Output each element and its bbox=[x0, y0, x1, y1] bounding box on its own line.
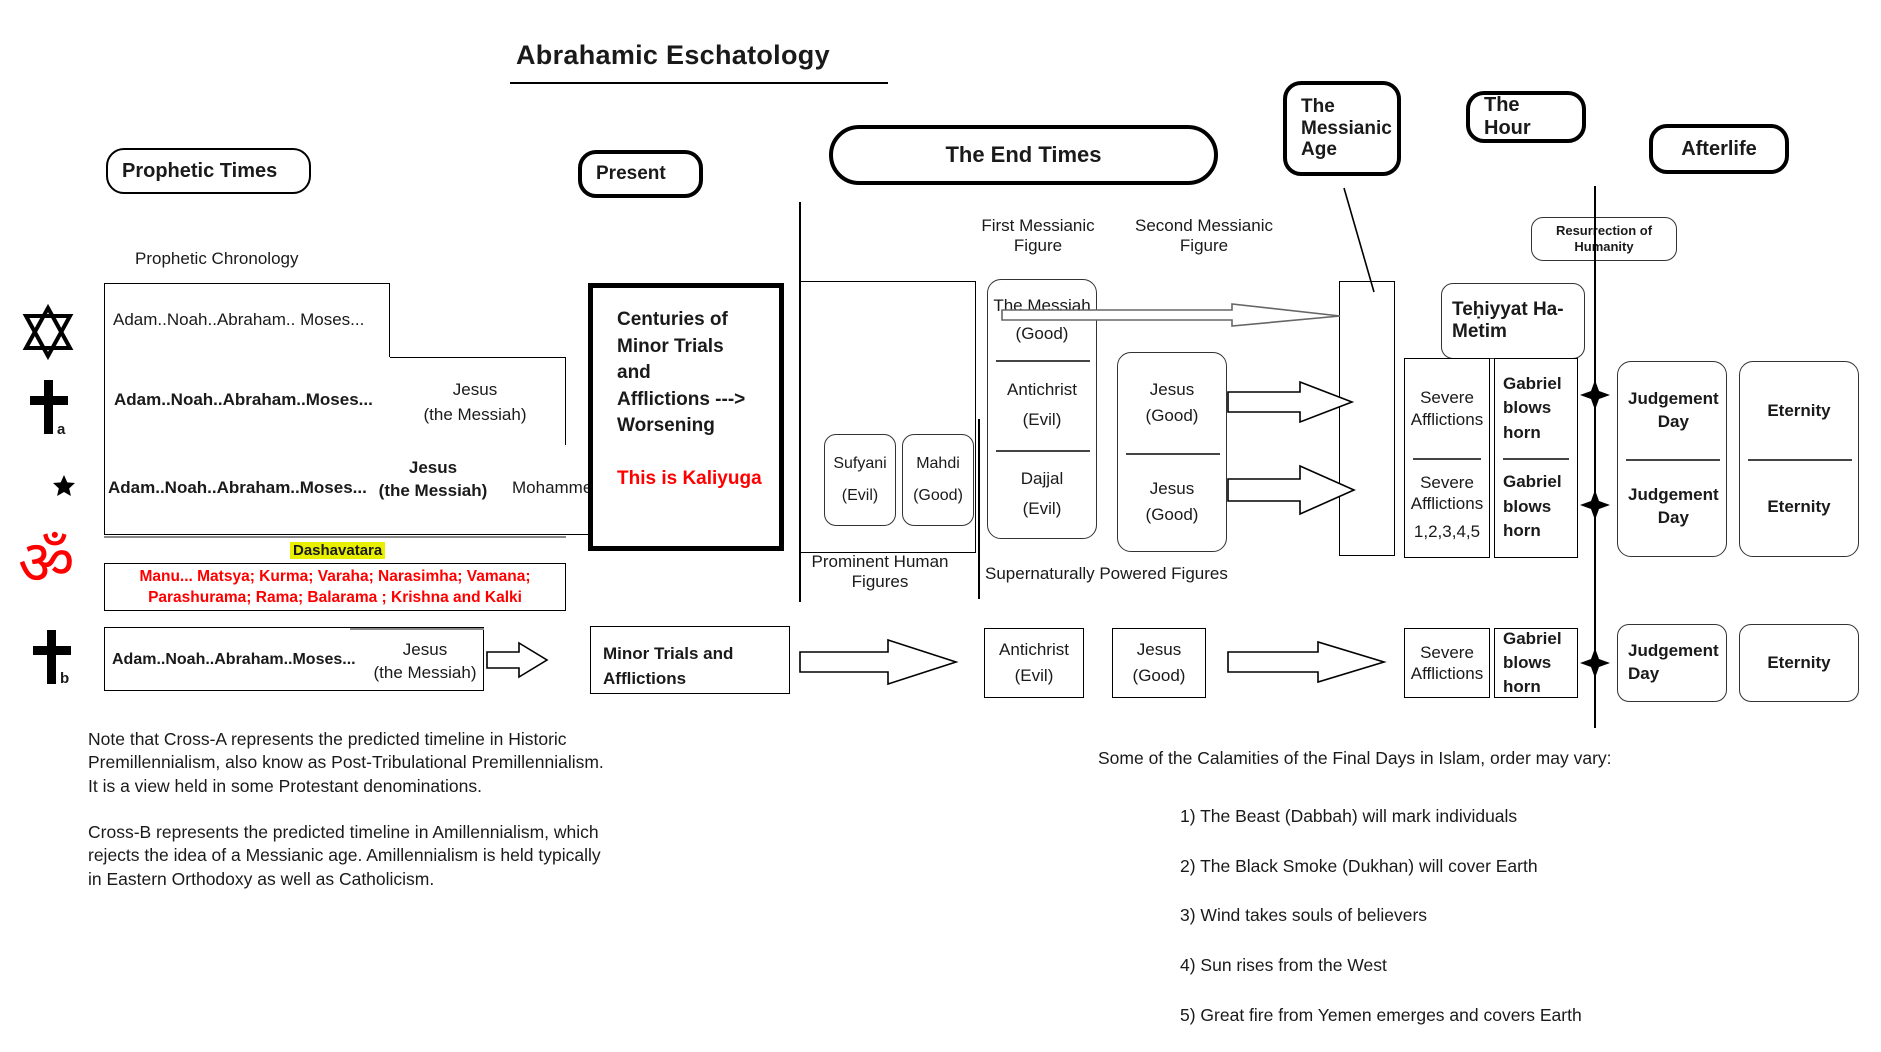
christianity-b-messiah-name: Jesus bbox=[375, 640, 475, 660]
figure-alignment: (Good) bbox=[1133, 666, 1186, 686]
affliction-label: Severe Afflictions bbox=[1409, 472, 1485, 515]
arrow-jesus1-to-messianic-age bbox=[1228, 380, 1356, 424]
affliction-note: 1,2,3,4,5 bbox=[1414, 521, 1480, 542]
tehiyyat-ha-metim-box: Teḥiyyat Ha-Metim bbox=[1441, 283, 1585, 359]
phase-present[interactable]: Present bbox=[578, 150, 703, 198]
figure-alignment: (Good) bbox=[1146, 505, 1199, 525]
christianity-a-messiah-name: Jesus bbox=[405, 380, 545, 400]
star-of-david-icon bbox=[22, 305, 74, 364]
affliction-label: Severe Afflictions bbox=[1409, 387, 1485, 430]
islam-messiah-name: Jesus bbox=[368, 458, 498, 478]
figure-name: Dajjal bbox=[1021, 469, 1064, 489]
eternity-label: Eternity bbox=[1767, 497, 1830, 517]
page-title: Abrahamic Eschatology bbox=[516, 40, 830, 71]
severe-afflictions-stack: Severe Afflictions Severe Afflictions 1,… bbox=[1404, 358, 1490, 558]
calamity-item: 1) The Beast (Dabbah) will mark individu… bbox=[1180, 804, 1582, 829]
label-supernatural-figures: Supernaturally Powered Figures bbox=[985, 564, 1228, 584]
calamity-item: 3) Wind takes souls of believers bbox=[1180, 903, 1582, 928]
messianic-age-connector bbox=[1330, 186, 1450, 316]
figure-name: Antichrist bbox=[1007, 380, 1077, 400]
eternity-stack: Eternity Eternity bbox=[1739, 361, 1859, 557]
judgement-label: Judgement Day bbox=[1628, 388, 1719, 434]
cross-b-subscript: b bbox=[60, 670, 69, 688]
cross-b-minor-trials-label: Minor Trials and Afflictions bbox=[603, 642, 783, 691]
islam-prophets: Adam..Noah..Abraham..Moses... bbox=[108, 478, 367, 498]
figure-name: Jesus bbox=[1137, 640, 1181, 660]
notes-right-items: 1) The Beast (Dabbah) will mark individu… bbox=[1180, 779, 1582, 1052]
svg-text:ॐ: ॐ bbox=[18, 526, 75, 599]
afterlife-boundary-line bbox=[1594, 186, 1596, 728]
cross-b-eternity-box: Eternity bbox=[1739, 624, 1859, 702]
calamity-item: 4) Sun rises from the West bbox=[1180, 953, 1582, 978]
judgement-label: Judgement Day bbox=[1628, 484, 1719, 530]
figure-alignment: (Good) bbox=[913, 487, 963, 505]
label-first-messianic-figure: First Messianic Figure bbox=[972, 216, 1104, 257]
christianity-b-prophets: Adam..Noah..Abraham..Moses... bbox=[112, 650, 356, 669]
label-prophetic-chronology: Prophetic Chronology bbox=[135, 249, 298, 269]
notes-right-heading: Some of the Calamities of the Final Days… bbox=[1098, 747, 1612, 770]
phase-label: Afterlife bbox=[1667, 138, 1771, 161]
phase-the-hour[interactable]: The Hour bbox=[1466, 91, 1586, 143]
christianity-a-prophets: Adam..Noah..Abraham..Moses... bbox=[114, 390, 373, 410]
islam-messiah-note: (the Messiah) bbox=[362, 481, 504, 501]
cross-a-subscript: a bbox=[57, 421, 65, 439]
christianity-a-messiah-note: (the Messiah) bbox=[396, 405, 554, 425]
islam-band-bottom-rule bbox=[104, 536, 566, 538]
figure-alignment: (Evil) bbox=[1015, 666, 1054, 686]
dashavatara-line-2: Parashurama; Rama; Balarama ; Krishna an… bbox=[110, 589, 560, 608]
figure-name: Mahdi bbox=[916, 455, 960, 473]
phase-label: The Messianic Age bbox=[1287, 96, 1406, 162]
boundary-marker-icon bbox=[1580, 490, 1610, 520]
figure-alignment: (Good) bbox=[1146, 406, 1199, 426]
calamity-item: 2) The Black Smoke (Dukhan) will cover E… bbox=[1180, 854, 1582, 879]
dashavatara-line-1: Manu... Matsya; Kurma; Varaha; Narasimha… bbox=[110, 568, 560, 587]
arrow-chronology-to-present bbox=[487, 640, 549, 680]
cross-b-severe-afflictions-box: Severe Afflictions bbox=[1404, 628, 1490, 698]
phase-end-times[interactable]: The End Times bbox=[829, 125, 1218, 185]
arrow-present-to-end-times bbox=[800, 638, 960, 686]
arrow-jesus2-to-messianic-age bbox=[1228, 465, 1356, 515]
cross-b-gabriel-box: Gabriel blows horn bbox=[1494, 628, 1578, 698]
star-and-crescent-icon bbox=[21, 455, 79, 516]
calamity-item: 5) Great fire from Yemen emerges and cov… bbox=[1180, 1003, 1582, 1028]
figure-sufyani: Sufyani (Evil) bbox=[824, 434, 896, 526]
label-second-messianic-figure: Second Messianic Figure bbox=[1124, 216, 1284, 257]
figure-name: Sufyani bbox=[833, 455, 886, 473]
notes-left: Note that Cross-A represents the predict… bbox=[88, 728, 788, 891]
phase-label: Prophetic Times bbox=[108, 160, 291, 183]
boundary-marker-icon bbox=[1580, 380, 1610, 410]
phase-messianic-age[interactable]: The Messianic Age bbox=[1283, 81, 1401, 176]
phase-label: Present bbox=[582, 163, 680, 185]
figure-name: Antichrist bbox=[999, 640, 1069, 660]
cross-b-antichrist-box: Antichrist (Evil) bbox=[984, 628, 1084, 698]
figure-alignment: (Evil) bbox=[1023, 499, 1062, 519]
phase-label: The End Times bbox=[931, 142, 1115, 167]
christianity-b-top-rule bbox=[350, 628, 484, 630]
cross-b-jesus-box: Jesus (Good) bbox=[1112, 628, 1206, 698]
supernatural-divider bbox=[978, 419, 980, 599]
judgement-day-stack: Judgement Day Judgement Day bbox=[1617, 361, 1727, 557]
phase-prophetic-times[interactable]: Prophetic Times bbox=[106, 148, 311, 194]
arrow-messiah-to-messianic-age bbox=[1002, 300, 1352, 340]
eternity-label: Eternity bbox=[1767, 401, 1830, 421]
figure-name: Jesus bbox=[1150, 380, 1194, 400]
phase-afterlife[interactable]: Afterlife bbox=[1649, 124, 1789, 174]
figure-alignment: (Evil) bbox=[1023, 410, 1062, 430]
label-resurrection-of-humanity: Resurrection of Humanity bbox=[1531, 217, 1677, 261]
judaism-prophets: Adam..Noah..Abraham.. Moses... bbox=[113, 310, 364, 330]
present-box: Centuries of Minor Trials and Affliction… bbox=[588, 283, 784, 551]
figure-alignment: (Evil) bbox=[842, 487, 878, 505]
christianity-b-messiah-note: (the Messiah) bbox=[363, 663, 487, 683]
gabriel-horn-stack: Gabriel blows horn Gabriel blows horn bbox=[1494, 358, 1578, 558]
phase-label: The Hour bbox=[1470, 94, 1582, 140]
boundary-marker-icon bbox=[1580, 648, 1610, 678]
figure-name: Jesus bbox=[1150, 479, 1194, 499]
gabriel-label: Gabriel blows horn bbox=[1503, 470, 1569, 544]
second-messianic-stack: Jesus (Good) Jesus (Good) bbox=[1117, 352, 1227, 552]
figure-mahdi: Mahdi (Good) bbox=[902, 434, 974, 526]
title-underline bbox=[510, 82, 888, 84]
label-prominent-human-figures: Prominent Human Figures bbox=[800, 552, 960, 593]
present-box-text: Centuries of Minor Trials and Affliction… bbox=[617, 307, 745, 440]
om-icon: ॐ bbox=[18, 528, 80, 599]
cross-b-minor-trials-box: Minor Trials and Afflictions bbox=[590, 626, 790, 694]
christianity-a-band-right bbox=[390, 357, 566, 445]
gabriel-label: Gabriel blows horn bbox=[1503, 372, 1569, 446]
cross-b-judgement-day-box: Judgement Day bbox=[1617, 624, 1727, 702]
present-box-kaliyuga: This is Kaliyuga bbox=[617, 468, 762, 491]
dashavatara-heading: Dashavatara bbox=[290, 542, 385, 559]
arrow-cross-b-to-hour bbox=[1228, 640, 1388, 684]
